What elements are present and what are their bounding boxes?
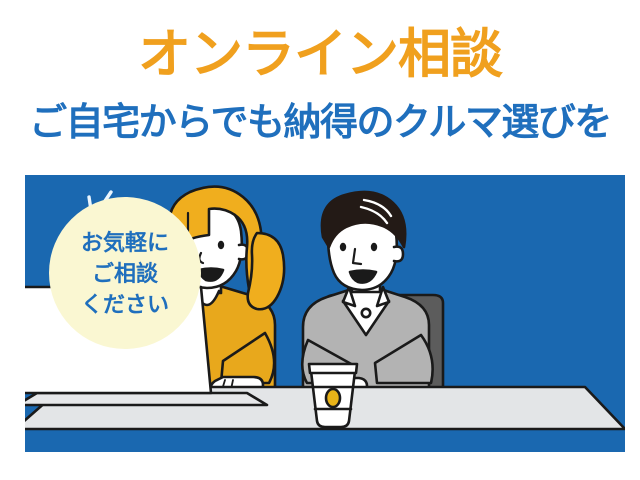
- online-consultation-banner: オンライン相談 ご自宅からでも納得のクルマ選びを: [0, 0, 640, 480]
- coffee-cup-icon: [309, 364, 357, 427]
- illustration-panel: お気軽に ご相談 ください: [25, 175, 625, 452]
- status-badge: お気軽に ご相談 ください: [49, 197, 201, 349]
- badge-line-1: お気軽に: [81, 227, 169, 258]
- badge-line-3: ください: [81, 289, 169, 320]
- page-subtitle: ご自宅からでも納得のクルマ選びを: [0, 100, 640, 146]
- page-title: オンライン相談: [0, 26, 640, 84]
- badge-line-2: ご相談: [92, 258, 158, 289]
- heading-block: オンライン相談 ご自宅からでも納得のクルマ選びを: [0, 0, 640, 172]
